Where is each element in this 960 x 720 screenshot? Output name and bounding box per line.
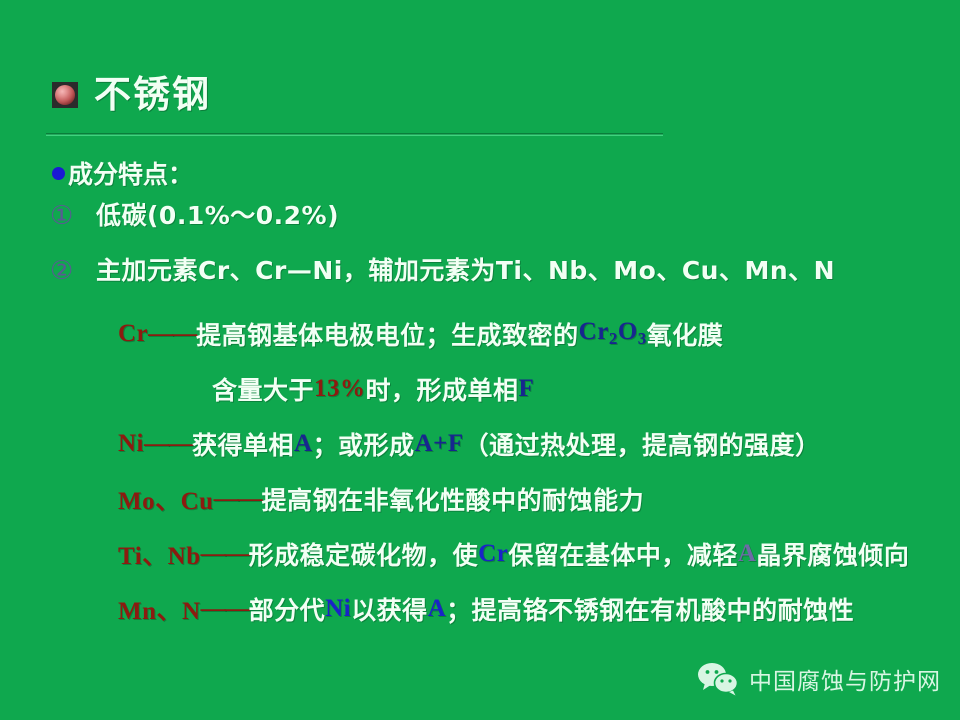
phase-f: F <box>519 375 535 403</box>
em-dash: —— <box>201 595 249 623</box>
symbol-cr: Cr <box>118 320 148 348</box>
detail-text-n: ；提高铬不锈钢在有机酸中的耐蚀性 <box>446 591 854 627</box>
detail-text-a: 提高钢基体电极电位；生成致密的 <box>196 316 579 352</box>
symbol-mn-n: Mn、N <box>118 591 201 627</box>
wechat-icon <box>697 662 739 696</box>
detail-text-d: 时，形成单相 <box>366 371 519 407</box>
detail-line-ni: Ni——获得单相 A ；或形成 A+F （通过热处理，提高钢的强度） <box>118 416 960 471</box>
list-item: ① 低碳(0.1%～0.2%) <box>50 196 960 251</box>
detail-text-l: 部分代 <box>249 591 326 627</box>
list-marker-2: ② <box>50 256 96 286</box>
detail-text-i: 形成稳定碳化物，使 <box>249 536 479 572</box>
list-item: ② 主加元素Cr、Cr—Ni，辅加元素为Ti、Nb、Mo、Cu、Mn、N <box>50 251 960 306</box>
symbol-ni: Ni <box>118 430 144 458</box>
detail-text-e: 获得单相 <box>192 426 294 462</box>
detail-text-g: （通过热处理，提高钢的强度） <box>464 426 821 462</box>
body-heading: 成分特点： <box>52 150 960 196</box>
red-sphere-bullet-icon <box>52 82 78 108</box>
blue-dot-bullet-icon <box>52 167 65 180</box>
symbol-ni-inline: Ni <box>325 595 351 623</box>
em-dash: —— <box>201 540 249 568</box>
phase-a-plus-f: A+F <box>415 430 464 458</box>
watermark: 中国腐蚀与防护网 <box>697 662 941 696</box>
detail-line-mn-n: Mn、N—— 部分代 Ni 以获得 A；提高铬不锈钢在有机酸中的耐蚀性 <box>118 581 960 636</box>
title-divider <box>46 133 663 136</box>
watermark-label: 中国腐蚀与防护网 <box>749 662 941 696</box>
detail-line-mo-cu: Mo、Cu—— 提高钢在非氧化性酸中的耐蚀能力 <box>118 471 960 526</box>
detail-text-c: 含量大于 <box>212 371 314 407</box>
phase-a-inline-2: A <box>428 595 447 623</box>
detail-text-k: 晶界腐蚀倾向 <box>756 536 909 572</box>
detail-line-ti-nb: Ti、Nb——形成稳定碳化物，使Cr保留在基体中，减轻A晶界腐蚀倾向 <box>118 526 960 581</box>
detail-line-content-13: 含量大于13%时，形成单相 F <box>212 361 960 416</box>
page-title: 不锈钢 <box>94 76 211 113</box>
list-item-text-2: 主加元素Cr、Cr—Ni，辅加元素为Ti、Nb、Mo、Cu、Mn、N <box>96 251 835 287</box>
formula-cr2o3: Cr2O3 <box>579 318 647 349</box>
detail-text-m: 以获得 <box>351 591 428 627</box>
symbol-ti-nb: Ti、Nb <box>118 536 201 572</box>
em-dash: —— <box>214 485 262 513</box>
detail-text-b: 氧化膜 <box>647 316 724 352</box>
list-item-text-1: 低碳(0.1%～0.2%) <box>96 196 339 232</box>
detail-text-h: 提高钢在非氧化性酸中的耐蚀能力 <box>262 481 645 517</box>
em-dash: —— <box>148 320 196 348</box>
body-heading-label: 成分特点： <box>68 155 193 191</box>
symbol-cr-inline: Cr <box>478 540 508 568</box>
slide-body: 成分特点： ① 低碳(0.1%～0.2%) ② 主加元素Cr、Cr—Ni，辅加元… <box>0 150 960 636</box>
slide-title: 不锈钢 <box>52 76 211 113</box>
symbol-mo-cu: Mo、Cu <box>118 481 214 517</box>
list-marker-1: ① <box>50 201 96 231</box>
em-dash: —— <box>144 430 192 458</box>
value-13-percent: 13% <box>314 375 366 403</box>
slide-root: 不锈钢 成分特点： ① 低碳(0.1%～0.2%) ② 主加元素Cr、Cr—Ni… <box>0 0 960 720</box>
phase-a: A <box>294 430 313 458</box>
detail-text-f: ；或形成 <box>313 426 415 462</box>
phase-a-inline: A <box>738 540 757 568</box>
detail-text-j: 保留在基体中，减轻 <box>508 536 738 572</box>
detail-line-cr: Cr——提高钢基体电极电位；生成致密的 Cr2O3 氧化膜 <box>118 306 960 361</box>
